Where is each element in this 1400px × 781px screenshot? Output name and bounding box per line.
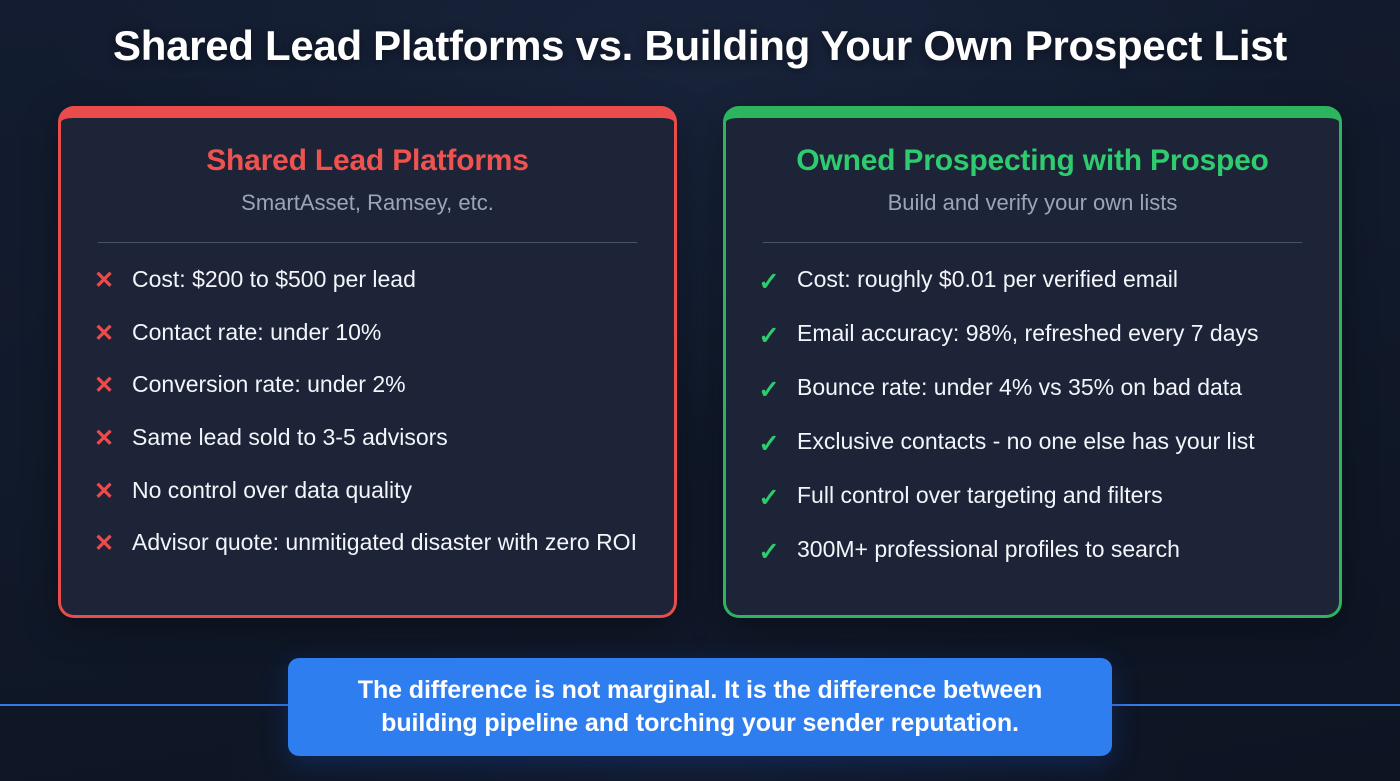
list-item: ✕ Conversion rate: under 2% [93, 370, 642, 402]
list-item: ✕ No control over data quality [93, 476, 642, 508]
list-item-label: Advisor quote: unmitigated disaster with… [132, 528, 637, 557]
list-item-label: No control over data quality [132, 476, 412, 505]
check-mark-icon: ✓ [758, 482, 780, 514]
list-item: ✓ Bounce rate: under 4% vs 35% on bad da… [758, 373, 1307, 406]
list-item: ✓ Full control over targeting and filter… [758, 481, 1307, 514]
x-mark-icon: ✕ [93, 319, 115, 350]
comparison-cards: Shared Lead Platforms SmartAsset, Ramsey… [58, 106, 1342, 618]
x-mark-icon: ✕ [93, 477, 115, 508]
list-item: ✕ Contact rate: under 10% [93, 318, 642, 350]
x-mark-icon: ✕ [93, 371, 115, 402]
feature-list-negative: ✕ Cost: $200 to $500 per lead ✕ Contact … [93, 265, 642, 560]
conclusion-banner: The difference is not marginal. It is th… [288, 658, 1112, 756]
check-mark-icon: ✓ [758, 320, 780, 352]
list-item: ✓ Cost: roughly $0.01 per verified email [758, 265, 1307, 298]
list-item-label: Bounce rate: under 4% vs 35% on bad data [797, 373, 1242, 402]
x-mark-icon: ✕ [93, 266, 115, 297]
list-item: ✓ 300M+ professional profiles to search [758, 535, 1307, 568]
page-title: Shared Lead Platforms vs. Building Your … [0, 22, 1400, 70]
list-item: ✕ Advisor quote: unmitigated disaster wi… [93, 528, 642, 560]
list-item-label: Same lead sold to 3-5 advisors [132, 423, 448, 452]
list-item-label: Contact rate: under 10% [132, 318, 381, 347]
list-item-label: 300M+ professional profiles to search [797, 535, 1180, 564]
list-item-label: Cost: roughly $0.01 per verified email [797, 265, 1178, 294]
card-divider-positive [763, 242, 1302, 243]
card-title-negative: Shared Lead Platforms [93, 144, 642, 179]
list-item: ✕ Same lead sold to 3-5 advisors [93, 423, 642, 455]
feature-list-positive: ✓ Cost: roughly $0.01 per verified email… [758, 265, 1307, 568]
card-title-positive: Owned Prospecting with Prospeo [758, 144, 1307, 179]
list-item: ✕ Cost: $200 to $500 per lead [93, 265, 642, 297]
list-item-label: Cost: $200 to $500 per lead [132, 265, 416, 294]
card-divider-negative [98, 242, 637, 243]
list-item-label: Conversion rate: under 2% [132, 370, 406, 399]
x-mark-icon: ✕ [93, 424, 115, 455]
check-mark-icon: ✓ [758, 428, 780, 460]
check-mark-icon: ✓ [758, 266, 780, 298]
list-item-label: Email accuracy: 98%, refreshed every 7 d… [797, 319, 1258, 348]
list-item-label: Full control over targeting and filters [797, 481, 1163, 510]
list-item-label: Exclusive contacts - no one else has you… [797, 427, 1255, 456]
card-owned-prospecting: Owned Prospecting with Prospeo Build and… [723, 106, 1342, 618]
check-mark-icon: ✓ [758, 374, 780, 406]
card-subtitle-negative: SmartAsset, Ramsey, etc. [93, 190, 642, 216]
card-shared-lead-platforms: Shared Lead Platforms SmartAsset, Ramsey… [58, 106, 677, 618]
check-mark-icon: ✓ [758, 536, 780, 568]
list-item: ✓ Email accuracy: 98%, refreshed every 7… [758, 319, 1307, 352]
x-mark-icon: ✕ [93, 529, 115, 560]
conclusion-banner-text: The difference is not marginal. It is th… [314, 674, 1086, 740]
list-item: ✓ Exclusive contacts - no one else has y… [758, 427, 1307, 460]
card-subtitle-positive: Build and verify your own lists [758, 190, 1307, 216]
slide-canvas: Shared Lead Platforms vs. Building Your … [0, 0, 1400, 781]
